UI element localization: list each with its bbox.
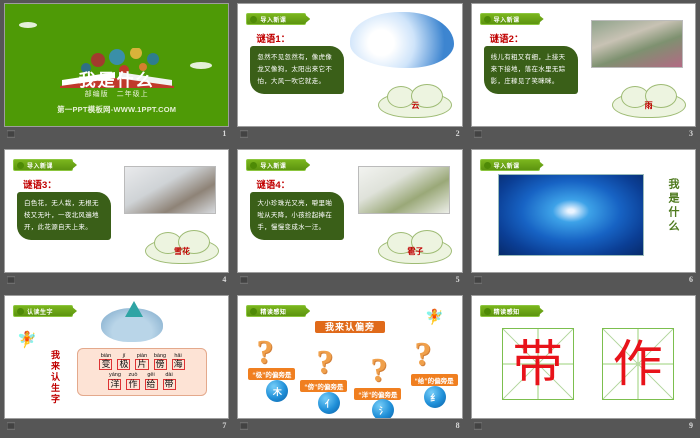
bullet-dot-icon bbox=[250, 308, 257, 315]
radical-answer[interactable]: 亻 bbox=[318, 392, 340, 414]
pinyin-item[interactable]: hǎi 海 bbox=[172, 353, 185, 370]
riddle-label: 谜语3： bbox=[23, 177, 57, 191]
answer-text: 雹子 bbox=[407, 246, 423, 257]
slide-thumb-icon bbox=[474, 422, 482, 430]
riddle-text: 线儿有粗又有细，上接天来下接地，落在水里无踪影，庄稼见了笑眯眯。 bbox=[484, 46, 578, 94]
slide-thumb-icon bbox=[240, 276, 248, 284]
slide-thumbnail-9[interactable]: 精读感知 带 作 bbox=[471, 295, 696, 419]
slide-thumb-icon bbox=[7, 276, 15, 284]
slide-number: 4 bbox=[222, 276, 226, 284]
slide-thumbnail-7[interactable]: 认读生字 🧚 我来认生字 biàn 变 jí 极 bbox=[4, 295, 229, 419]
water-slide: 导入新课 我是什么 bbox=[472, 150, 695, 272]
cover-title: 我是什么 bbox=[5, 66, 228, 91]
question-mark-icon: ? bbox=[414, 336, 431, 374]
slide-number: 8 bbox=[456, 422, 460, 430]
slide-thumbnail-grid: 我是什么 部编版 二年级上 第一PPT模板网-WWW.1PPT.COM 1 导入… bbox=[0, 0, 700, 438]
radical-label: “极”的偏旁是 bbox=[248, 368, 295, 380]
cover-slide: 我是什么 部编版 二年级上 第一PPT模板网-WWW.1PPT.COM bbox=[5, 4, 228, 126]
pinyin-panel: biàn 变 jí 极 piàn 片 bàng bbox=[77, 348, 207, 396]
slide-cell-6[interactable]: 导入新课 我是什么 6 bbox=[467, 146, 700, 292]
radical-answer[interactable]: 木 bbox=[266, 380, 288, 402]
hail-grass-photo bbox=[358, 166, 450, 214]
hanzi-text: 洋 bbox=[108, 379, 121, 390]
riddle-text: 大小珍珠光又亮，噼里啪啦从天降，小孩捡起捧在手，慢慢变成水一汪。 bbox=[250, 192, 344, 240]
cloud-photo bbox=[350, 12, 454, 68]
fairy-icon: 🧚 bbox=[17, 330, 37, 350]
pinyin-item[interactable]: bàng 傍 bbox=[154, 353, 167, 370]
bullet-dot-icon bbox=[484, 16, 491, 23]
riddle-label: 谜语4： bbox=[256, 177, 290, 191]
slide-number: 5 bbox=[456, 276, 460, 284]
question-mark-icon: ? bbox=[316, 344, 333, 382]
badge-label: 精读感知 bbox=[260, 307, 286, 316]
slide-cell-8[interactable]: 精读感知 我来认偏旁 🧚 ? “极”的偏旁是 木 ? “傍”的偏旁是 亻 ? “… bbox=[233, 292, 466, 438]
slide-thumb-icon bbox=[474, 130, 482, 138]
slide-number: 2 bbox=[456, 130, 460, 138]
slide-cell-7[interactable]: 认读生字 🧚 我来认生字 biàn 变 jí 极 bbox=[0, 292, 233, 438]
hanzi-text: 变 bbox=[99, 359, 112, 370]
slide-thumb-icon bbox=[240, 130, 248, 138]
slide-thumb-icon bbox=[474, 276, 482, 284]
vertical-section-title: 我来认生字 bbox=[49, 350, 62, 405]
riddle-text: 白色花，无人栽，无根无枝又无叶，一夜北风遍地开，此花源自天上来。 bbox=[17, 192, 111, 240]
snow-branch-photo bbox=[124, 166, 216, 214]
answer-text: 雪花 bbox=[174, 246, 190, 257]
badge-label: 导入新课 bbox=[260, 161, 286, 170]
radicals-title-text: 我来认偏旁 bbox=[315, 321, 385, 333]
slide-number: 9 bbox=[689, 422, 693, 430]
riddle-slide-1: 导入新课 谜语1： 忽然不见忽然有，像虎像龙又像狗，太阳出来它不怕，大风一吹它就… bbox=[238, 4, 461, 126]
slide-caption-8: 8 bbox=[237, 419, 462, 433]
hanzi-text: 海 bbox=[172, 359, 185, 370]
slide-caption-9: 9 bbox=[471, 419, 696, 433]
slide-thumbnail-2[interactable]: 导入新课 谜语1： 忽然不见忽然有，像虎像龙又像狗，太阳出来它不怕，大风一吹它就… bbox=[237, 3, 462, 127]
slide-cell-9[interactable]: 精读感知 带 作 9 bbox=[467, 292, 700, 438]
pinyin-row: biàn 变 jí 极 piàn 片 bàng bbox=[82, 353, 202, 370]
pinyin-item[interactable]: zuò 作 bbox=[126, 372, 139, 389]
hanzi-text: 傍 bbox=[154, 359, 167, 370]
pinyin-item[interactable]: jí 极 bbox=[117, 353, 130, 370]
slide-caption-1: 1 bbox=[4, 127, 229, 141]
badge-label: 导入新课 bbox=[494, 161, 520, 170]
pinyin-item[interactable]: dài 带 bbox=[163, 372, 176, 389]
slide-caption-7: 7 bbox=[4, 419, 229, 433]
rain-garden-photo bbox=[591, 20, 683, 68]
slide-caption-5: 5 bbox=[237, 273, 462, 287]
cover-subtitle: 部编版 二年级上 bbox=[5, 89, 228, 99]
water-drop-photo bbox=[498, 174, 644, 256]
section-badge: 导入新课 bbox=[246, 13, 306, 25]
section-badge: 导入新课 bbox=[13, 159, 73, 171]
pinyin-row: yáng 洋 zuò 作 gěi 给 dài 带 bbox=[82, 372, 202, 389]
bullet-dot-icon bbox=[250, 162, 257, 169]
badge-label: 导入新课 bbox=[27, 161, 53, 170]
section-badge: 导入新课 bbox=[480, 13, 540, 25]
riddle-slide-2: 导入新课 谜语2： 线儿有粗又有细，上接天来下接地，落在水里无踪影，庄稼见了笑眯… bbox=[472, 4, 695, 126]
slide-cell-2[interactable]: 导入新课 谜语1： 忽然不见忽然有，像虎像龙又像狗，太阳出来它不怕，大风一吹它就… bbox=[233, 0, 466, 146]
pinyin-item[interactable]: gěi 给 bbox=[145, 372, 158, 389]
slide-thumbnail-6[interactable]: 导入新课 我是什么 bbox=[471, 149, 696, 273]
answer-cloud: 雪花 bbox=[145, 238, 219, 264]
slide-thumb-icon bbox=[240, 422, 248, 430]
writing-slide: 精读感知 带 作 bbox=[472, 296, 695, 418]
slide-cell-3[interactable]: 导入新课 谜语2： 线儿有粗又有细，上接天来下接地，落在水里无踪影，庄稼见了笑眯… bbox=[467, 0, 700, 146]
badge-label: 认读生字 bbox=[27, 307, 53, 316]
slide-thumb-icon bbox=[7, 130, 15, 138]
cloud-decoration bbox=[19, 22, 37, 28]
question-mark-icon: ? bbox=[370, 352, 387, 390]
slide-cell-5[interactable]: 导入新课 谜语4： 大小珍珠光又亮，噼里啪啦从天降，小孩捡起捧在手，慢慢变成水一… bbox=[233, 146, 466, 292]
slide-thumb-icon bbox=[7, 422, 15, 430]
grid-character: 带 bbox=[503, 339, 573, 389]
pinyin-item[interactable]: piàn 片 bbox=[135, 353, 148, 370]
slide-caption-6: 6 bbox=[471, 273, 696, 287]
bullet-dot-icon bbox=[250, 16, 257, 23]
slide-thumbnail-8[interactable]: 精读感知 我来认偏旁 🧚 ? “极”的偏旁是 木 ? “傍”的偏旁是 亻 ? “… bbox=[237, 295, 462, 419]
slide-thumbnail-5[interactable]: 导入新课 谜语4： 大小珍珠光又亮，噼里啪啦从天降，小孩捡起捧在手，慢慢变成水一… bbox=[237, 149, 462, 273]
riddle-label: 谜语1： bbox=[256, 31, 290, 45]
hanzi-text: 极 bbox=[117, 359, 130, 370]
bullet-dot-icon bbox=[484, 162, 491, 169]
section-badge: 导入新课 bbox=[246, 159, 306, 171]
answer-text: 雨 bbox=[645, 100, 653, 111]
slide-caption-3: 3 bbox=[471, 127, 696, 141]
slide-thumbnail-1[interactable]: 我是什么 部编版 二年级上 第一PPT模板网-WWW.1PPT.COM bbox=[4, 3, 229, 127]
new-words-slide: 认读生字 🧚 我来认生字 biàn 变 jí 极 bbox=[5, 296, 228, 418]
radical-answer[interactable]: 氵 bbox=[372, 399, 394, 419]
radical-answer[interactable]: 纟 bbox=[424, 386, 446, 408]
slide-cell-1[interactable]: 我是什么 部编版 二年级上 第一PPT模板网-WWW.1PPT.COM 1 bbox=[0, 0, 233, 146]
slide-number: 7 bbox=[222, 422, 226, 430]
section-badge: 精读感知 bbox=[480, 305, 540, 317]
slide-number: 3 bbox=[689, 130, 693, 138]
hanzi-text: 带 bbox=[163, 379, 176, 390]
badge-label: 导入新课 bbox=[260, 15, 286, 24]
radical-label: “给”的偏旁是 bbox=[411, 374, 458, 386]
riddle-text: 忽然不见忽然有，像虎像龙又像狗，太阳出来它不怕，大风一吹它就走。 bbox=[250, 46, 344, 94]
question-mark-icon: ? bbox=[256, 334, 273, 372]
party-hat-icon bbox=[125, 301, 143, 317]
pinyin-item[interactable]: yáng 洋 bbox=[108, 372, 121, 389]
riddle-slide-3: 导入新课 谜语3： 白色花，无人栽，无根无枝又无叶，一夜北风遍地开，此花源自天上… bbox=[5, 150, 228, 272]
hanzi-text: 作 bbox=[126, 379, 139, 390]
slide-number: 1 bbox=[222, 130, 226, 138]
slide-number: 6 bbox=[689, 276, 693, 284]
riddle-slide-4: 导入新课 谜语4： 大小珍珠光又亮，噼里啪啦从天降，小孩捡起捧在手，慢慢变成水一… bbox=[238, 150, 461, 272]
slide-cell-4[interactable]: 导入新课 谜语3： 白色花，无人栽，无根无枝又无叶，一夜北风遍地开，此花源自天上… bbox=[0, 146, 233, 292]
section-badge: 导入新课 bbox=[480, 159, 540, 171]
cover-source-url: 第一PPT模板网-WWW.1PPT.COM bbox=[5, 104, 228, 115]
badge-label: 精读感知 bbox=[494, 307, 520, 316]
character-grid: 带 bbox=[502, 328, 574, 400]
slide-thumbnail-3[interactable]: 导入新课 谜语2： 线儿有粗又有细，上接天来下接地，落在水里无踪影，庄稼见了笑眯… bbox=[471, 3, 696, 127]
grid-character: 作 bbox=[603, 339, 673, 389]
fairy-icon: 🧚 bbox=[425, 308, 444, 326]
section-badge: 认读生字 bbox=[13, 305, 73, 317]
pinyin-text: yáng bbox=[108, 372, 121, 378]
pinyin-item[interactable]: biàn 变 bbox=[99, 353, 112, 370]
slide-thumbnail-4[interactable]: 导入新课 谜语3： 白色花，无人栽，无根无枝又无叶，一夜北风遍地开，此花源自天上… bbox=[4, 149, 229, 273]
section-badge: 精读感知 bbox=[246, 305, 306, 317]
hanzi-text: 片 bbox=[135, 359, 148, 370]
hanzi-text: 给 bbox=[145, 379, 158, 390]
riddle-label: 谜语2： bbox=[490, 31, 524, 45]
bullet-dot-icon bbox=[17, 162, 24, 169]
character-grid: 作 bbox=[602, 328, 674, 400]
radicals-slide: 精读感知 我来认偏旁 🧚 ? “极”的偏旁是 木 ? “傍”的偏旁是 亻 ? “… bbox=[238, 296, 461, 418]
answer-text: 云 bbox=[411, 100, 419, 111]
vertical-question-text: 我是什么 bbox=[665, 178, 681, 234]
slide-caption-4: 4 bbox=[4, 273, 229, 287]
answer-cloud: 雹子 bbox=[378, 238, 452, 264]
bullet-dot-icon bbox=[17, 308, 24, 315]
answer-cloud: 雨 bbox=[612, 92, 686, 118]
bullet-dot-icon bbox=[484, 308, 491, 315]
answer-cloud: 云 bbox=[378, 92, 452, 118]
badge-label: 导入新课 bbox=[494, 15, 520, 24]
radical-label: “傍”的偏旁是 bbox=[300, 380, 347, 392]
radical-label: “洋”的偏旁是 bbox=[354, 388, 401, 400]
slide-caption-2: 2 bbox=[237, 127, 462, 141]
